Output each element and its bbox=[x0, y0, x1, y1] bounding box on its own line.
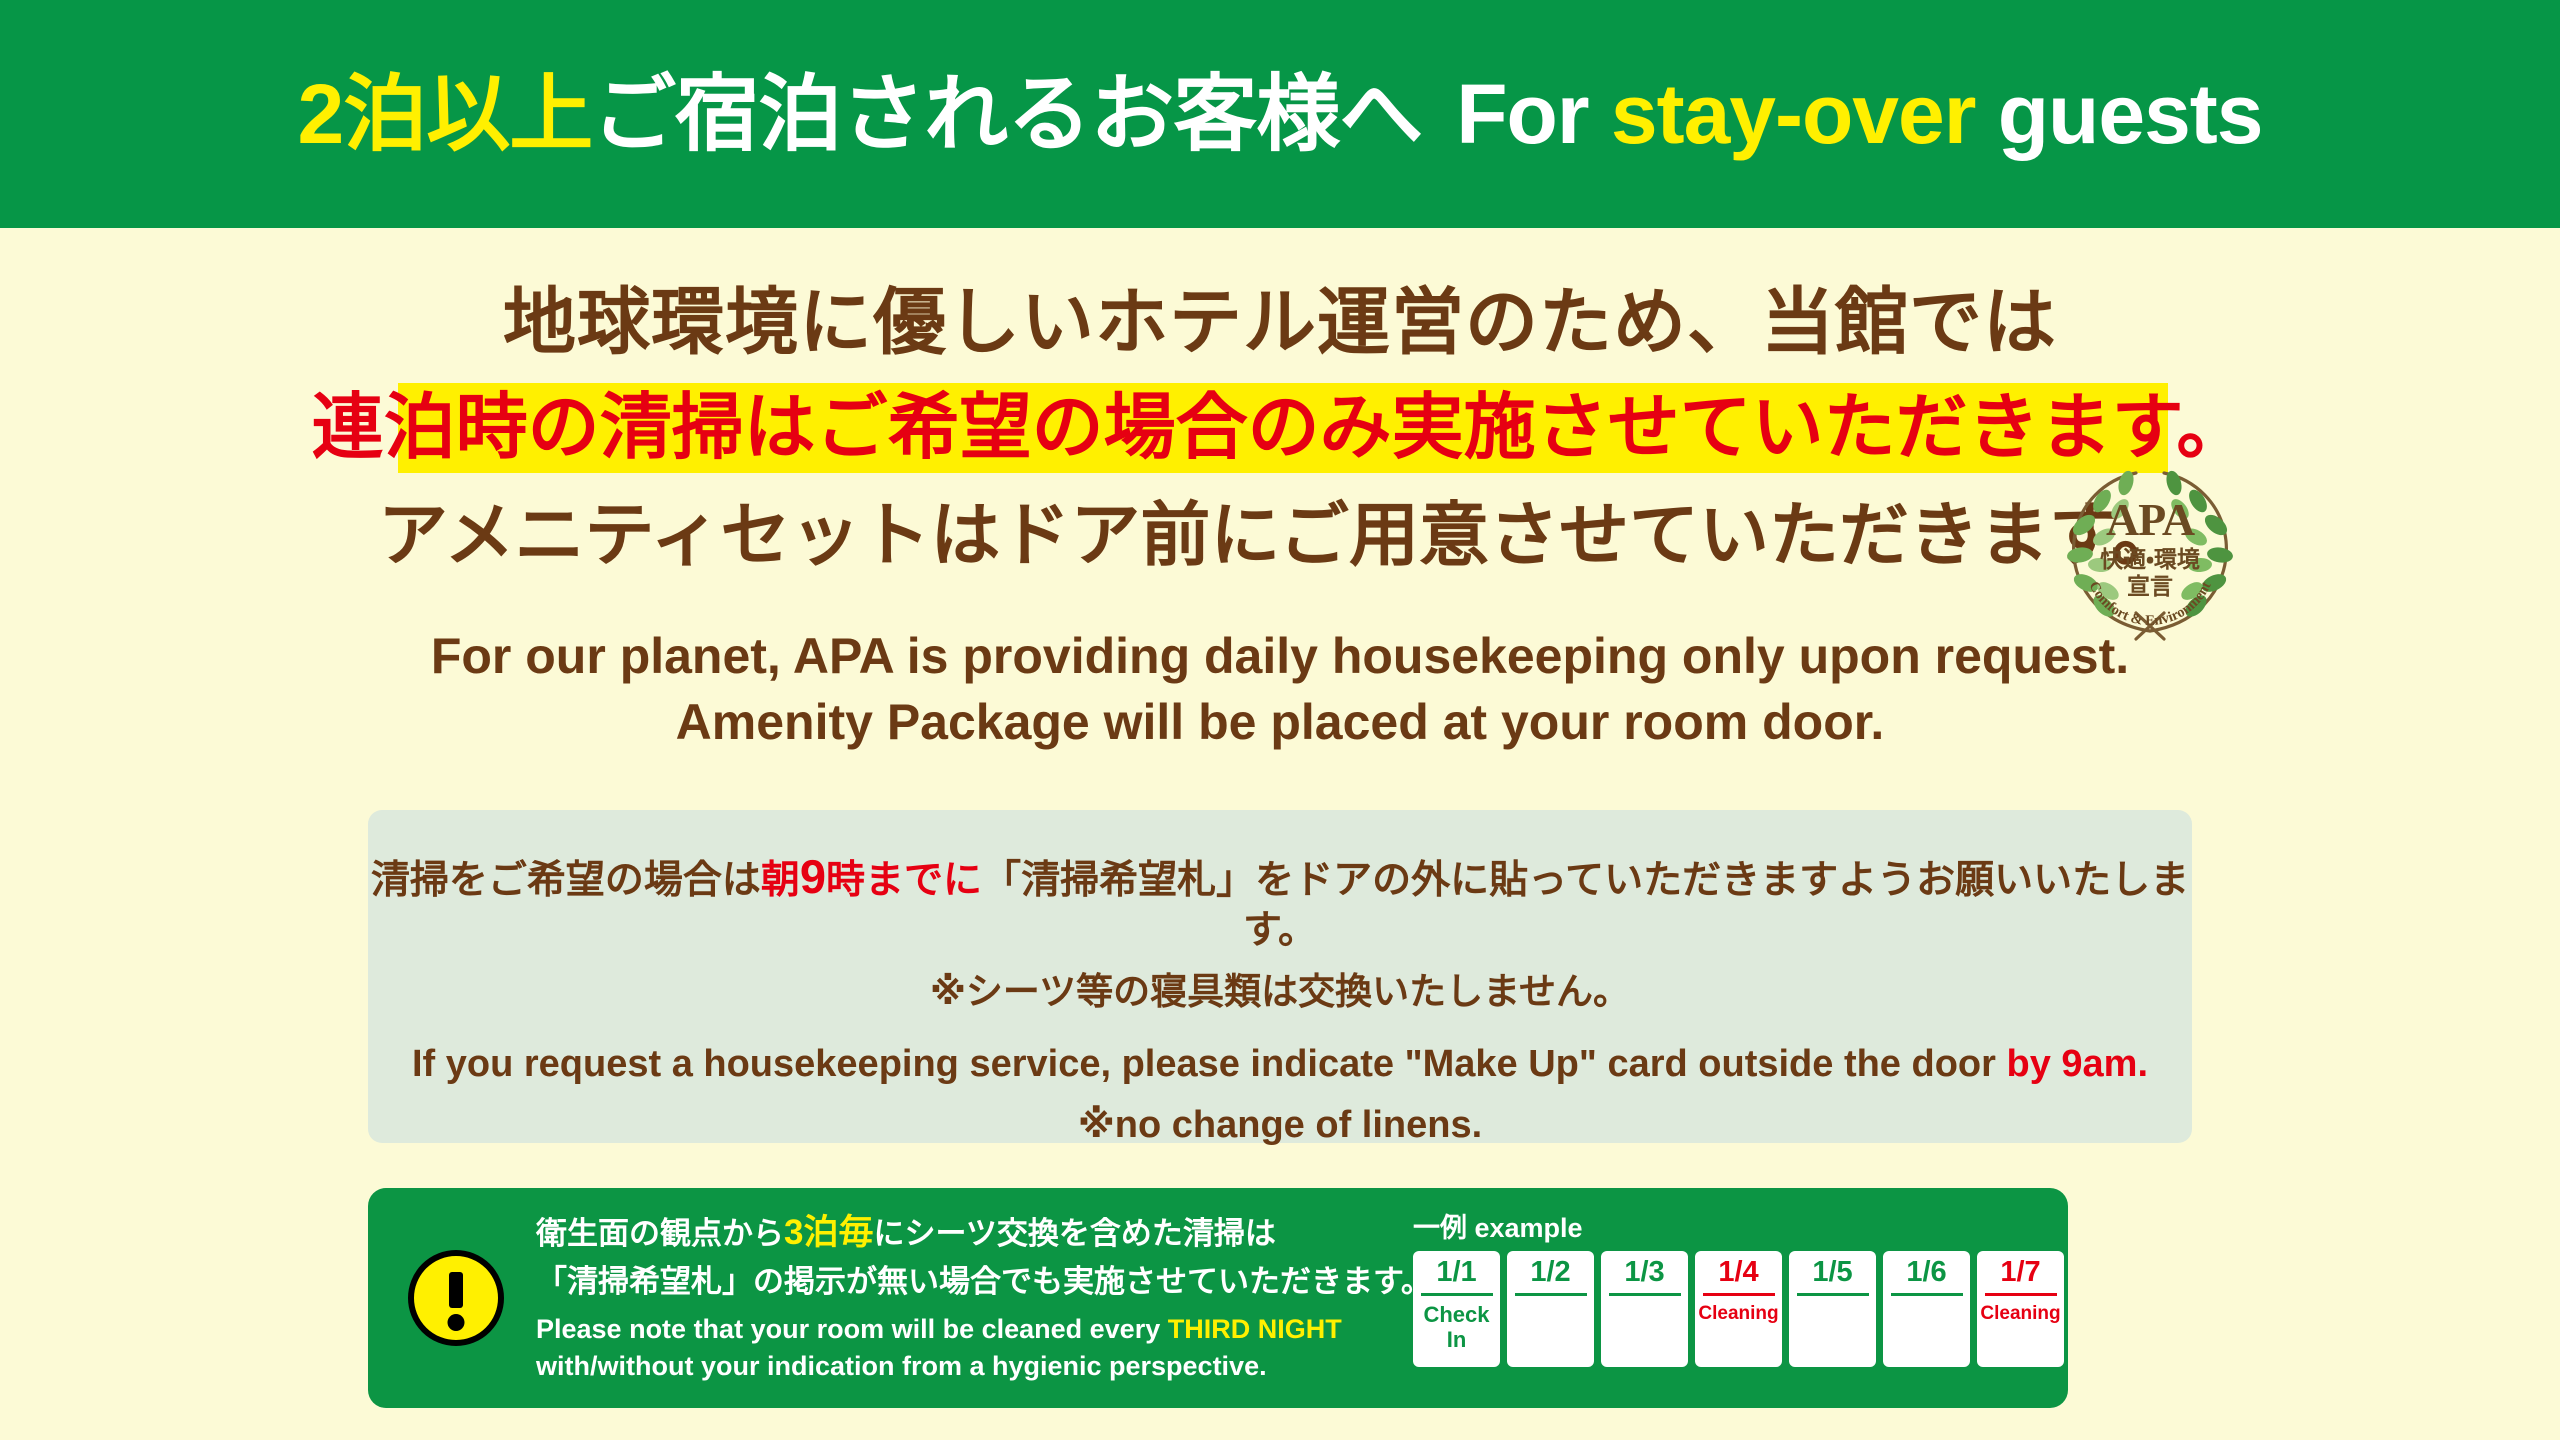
green-jp-line-1: 衛生面の観点から3泊毎にシーツ交換を含めた清掃は bbox=[536, 1210, 1256, 1257]
calendar-cell-note bbox=[1507, 1296, 1594, 1303]
mint-en-1-red: by 9am. bbox=[2006, 1043, 2148, 1085]
mint-jp-1-red-b: 時までに bbox=[826, 859, 982, 902]
calendar-cell: 1/4Cleaning bbox=[1695, 1251, 1782, 1367]
calendar-cell-date: 1/7 bbox=[1985, 1251, 2057, 1296]
green-box-text: 衛生面の観点から3泊毎にシーツ交換を含めた清掃は 「清掃希望札」の掲示が無い場合… bbox=[536, 1210, 1256, 1384]
mint-jp-line-1: 清掃をご希望の場合は朝9時までに「清掃希望札」をドアの外に貼っていただきますよう… bbox=[368, 848, 2192, 956]
calendar-cell-note: CheckIn bbox=[1413, 1296, 1500, 1352]
green-jp-1-post: にシーツ交換を含めた清掃は bbox=[873, 1216, 1275, 1251]
mint-jp-1-red-big: 9 bbox=[800, 850, 826, 903]
calendar-cell-note: Cleaning bbox=[1977, 1296, 2064, 1324]
header-banner: 2泊以上ご宿泊されるお客様へFor stay-over guests bbox=[0, 0, 2560, 228]
calendar-cell-note bbox=[1789, 1296, 1876, 1303]
third-night-cleaning-box: 衛生面の観点から3泊毎にシーツ交換を含めた清掃は 「清掃希望札」の掲示が無い場合… bbox=[368, 1188, 2068, 1408]
green-jp-1-yellow: 3泊毎 bbox=[784, 1213, 873, 1252]
green-en-line-1: Please note that your room will be clean… bbox=[536, 1312, 1256, 1347]
calendar-cell-date: 1/4 bbox=[1703, 1251, 1775, 1296]
calendar-row: 1/1CheckIn1/21/31/4Cleaning1/51/61/7Clea… bbox=[1413, 1251, 2064, 1367]
en-statement-line-2: Amenity Package will be placed at your r… bbox=[0, 689, 2560, 755]
green-en-1-pre: Please note that your room will be clean… bbox=[536, 1314, 1168, 1344]
calendar-cell-note bbox=[1883, 1296, 1970, 1303]
svg-text:快適・環境: 快適・環境 bbox=[2100, 546, 2200, 572]
calendar-cell: 1/7Cleaning bbox=[1977, 1251, 2064, 1367]
header-jp-rest: ご宿泊されるお客様へ bbox=[592, 67, 1422, 161]
green-jp-line-2: 「清掃希望札」の掲示が無い場合でも実施させていただきます。 bbox=[536, 1261, 1256, 1302]
calendar-cell-date: 1/6 bbox=[1891, 1251, 1963, 1296]
mint-jp-1-red-a: 朝 bbox=[761, 859, 800, 902]
header-en-pre: For bbox=[1456, 67, 1611, 161]
jp-statement-line-1: 地球環境に優しいホテル運営のため、当館では bbox=[0, 286, 2560, 359]
calendar-cell-note: Cleaning bbox=[1695, 1296, 1782, 1324]
svg-text:宣言: 宣言 bbox=[2127, 573, 2173, 599]
calendar-cell-date: 1/3 bbox=[1609, 1251, 1681, 1296]
calendar-cell-note bbox=[1601, 1296, 1688, 1303]
calendar-cell: 1/6 bbox=[1883, 1251, 1970, 1367]
green-jp-1-pre: 衛生面の観点から bbox=[536, 1216, 784, 1251]
apa-logo-graphic: APA 快適・環境 宣言 Comfort & Environment bbox=[2060, 463, 2240, 643]
example-calendar: 一例 example 1/1CheckIn1/21/31/4Cleaning1/… bbox=[1413, 1206, 2064, 1367]
notice-body: 地球環境に優しいホテル運営のため、当館では 連泊時の清掃はご希望の場合のみ実施さ… bbox=[0, 228, 2560, 1440]
calendar-cell-date: 1/5 bbox=[1797, 1251, 1869, 1296]
example-label: 一例 example bbox=[1413, 1206, 2064, 1245]
jp-statement-line-2: 連泊時の清掃はご希望の場合のみ実施させていただきます。 bbox=[0, 392, 2560, 464]
calendar-cell: 1/3 bbox=[1601, 1251, 1688, 1367]
header-title: 2泊以上ご宿泊されるお客様へFor stay-over guests bbox=[297, 72, 2262, 156]
calendar-cell: 1/1CheckIn bbox=[1413, 1251, 1500, 1367]
mint-jp-line-2: ※シーツ等の寝具類は交換いたしません。 bbox=[368, 968, 2192, 1016]
header-jp-highlight: 2泊以上 bbox=[297, 67, 592, 161]
header-en-highlight: stay-over bbox=[1611, 67, 1976, 161]
mint-jp-1-pre: 清掃をご希望の場合は bbox=[371, 859, 761, 902]
housekeeping-request-box: 清掃をご希望の場合は朝9時までに「清掃希望札」をドアの外に貼っていただきますよう… bbox=[368, 810, 2192, 1143]
calendar-cell: 1/2 bbox=[1507, 1251, 1594, 1367]
mint-en-line-1: If you request a housekeeping service, p… bbox=[368, 1040, 2192, 1089]
green-en-line-2: with/without your indication from a hygi… bbox=[536, 1349, 1256, 1384]
svg-text:APA: APA bbox=[2106, 494, 2195, 545]
apa-comfort-environment-logo: APA 快適・環境 宣言 Comfort & Environment bbox=[2060, 463, 2240, 643]
mint-en-1-pre: If you request a housekeeping service, p… bbox=[412, 1043, 2007, 1085]
calendar-cell-date: 1/1 bbox=[1421, 1251, 1493, 1296]
mint-jp-1-post: 「清掃希望札」をドアの外に貼っていただきますようお願いいたします。 bbox=[982, 859, 2189, 952]
header-en-post: guests bbox=[1975, 67, 2262, 161]
mint-en-line-2: ※no change of linens. bbox=[368, 1101, 2192, 1150]
green-en-1-yellow: THIRD NIGHT bbox=[1168, 1314, 1342, 1344]
calendar-cell-date: 1/2 bbox=[1515, 1251, 1587, 1296]
calendar-cell: 1/5 bbox=[1789, 1251, 1876, 1367]
exclamation-icon bbox=[408, 1250, 504, 1346]
